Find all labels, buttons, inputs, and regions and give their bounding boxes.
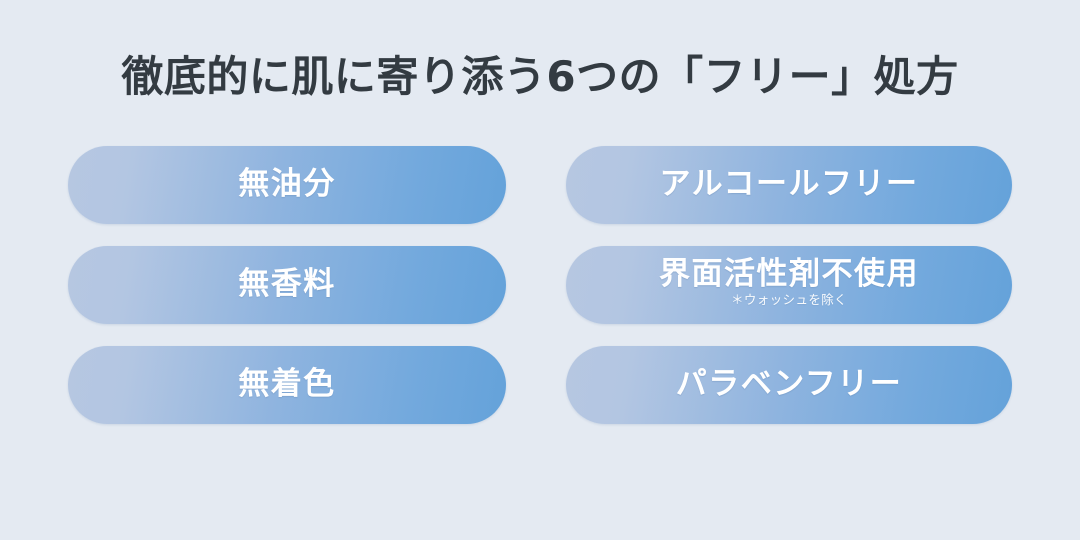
feature-pill-fragrance-free[interactable]: 無香料 xyxy=(68,246,506,324)
feature-pill-label: 無着色 xyxy=(238,369,336,400)
feature-pill-label: 無香料 xyxy=(238,269,336,300)
feature-pill-footnote: ＊ウォッシュを除く xyxy=(731,294,847,307)
feature-pill-label: パラベンフリー xyxy=(676,369,903,400)
feature-pill-colorant-free[interactable]: 無着色 xyxy=(68,346,506,424)
feature-pill-paraben-free[interactable]: パラベンフリー xyxy=(566,346,1012,424)
feature-pill-oil-free[interactable]: 無油分 xyxy=(68,146,506,224)
feature-pill-alcohol-free[interactable]: アルコールフリー xyxy=(566,146,1012,224)
free-formulation-panel: 徹底的に肌に寄り添う6つの「フリー」処方 無油分 無香料 無着色 アルコールフリ… xyxy=(0,0,1080,540)
feature-pill-label: 界面活性剤不使用 xyxy=(659,259,919,290)
feature-pill-label: アルコールフリー xyxy=(659,169,918,200)
page-title: 徹底的に肌に寄り添う6つの「フリー」処方 xyxy=(121,52,958,102)
feature-pill-grid: 無油分 無香料 無着色 アルコールフリー 界面活性剤不使用 ＊ウォッシュを除く … xyxy=(68,146,1012,424)
feature-pill-surfactant-free[interactable]: 界面活性剤不使用 ＊ウォッシュを除く xyxy=(566,246,1012,324)
feature-pill-label: 無油分 xyxy=(238,169,336,200)
